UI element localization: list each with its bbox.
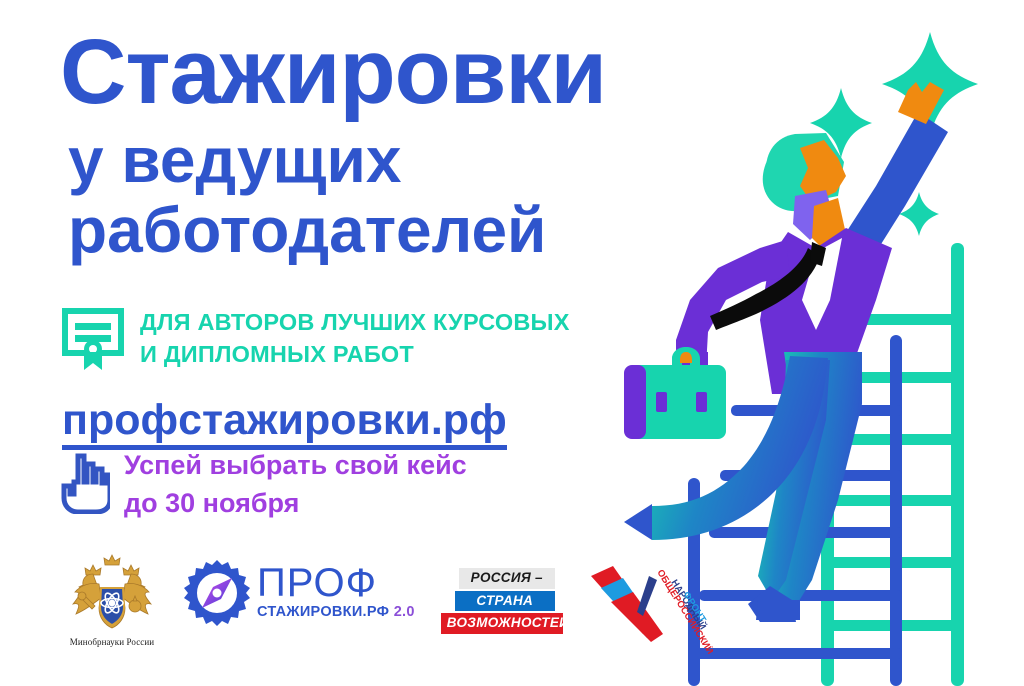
- pointer-hand-cursor-icon: [60, 452, 110, 514]
- cta-row: Успей выбрать свой кейс до 30 ноября: [60, 446, 467, 523]
- logo-strip: Минобрнауки России ПРОФ СТАЖИРОВКИ.РФ 2.…: [60, 552, 713, 654]
- logo-rossiya-strana-vozmozhnostey: РОССИЯ – СТРАНА ВОЗМОЖНОСТЕЙ: [441, 568, 563, 634]
- rsv-line-3: ВОЗМОЖНОСТЕЙ: [441, 613, 563, 634]
- prof-wordmark: ПРОФ: [257, 566, 415, 600]
- audience-line-1: ДЛЯ АВТОРОВ ЛУЧШИХ КУРСОВЫХ: [140, 306, 570, 338]
- russian-coat-of-arms-icon: [71, 552, 153, 630]
- audience-row: ДЛЯ АВТОРОВ ЛУЧШИХ КУРСОВЫХ И ДИПЛОМНЫХ …: [62, 306, 570, 371]
- site-url-link[interactable]: профстажировки.рф: [62, 398, 507, 450]
- briefcase: [624, 347, 726, 439]
- orange-hand-icon: [898, 82, 944, 124]
- sparkle-star-small: [899, 192, 939, 236]
- cta-text: Успей выбрать свой кейс до 30 ноября: [124, 446, 467, 523]
- teal-ladder: [821, 243, 964, 686]
- cta-line-1: Успей выбрать свой кейс: [124, 446, 467, 484]
- logo-onf: ОБЩЕРОССИЙСКИЙ НАРОДНЫЙ ФРОНТ: [583, 554, 713, 654]
- shoe-left: [624, 504, 652, 540]
- gear-compass-icon: [184, 560, 250, 626]
- rsv-line-1: РОССИЯ –: [459, 568, 555, 589]
- cta-line-2: до 30 ноября: [124, 484, 467, 522]
- logo-prof: ПРОФ СТАЖИРОВКИ.РФ 2.0: [184, 560, 415, 626]
- certificate-icon: [62, 308, 124, 370]
- audience-text: ДЛЯ АВТОРОВ ЛУЧШИХ КУРСОВЫХ И ДИПЛОМНЫХ …: [140, 306, 570, 371]
- face: [800, 140, 846, 203]
- logo-minobrnauki: Минобрнауки России: [60, 552, 164, 647]
- blue-ladder: [688, 335, 902, 686]
- prof-subline-text: СТАЖИРОВКИ.РФ: [257, 604, 389, 620]
- headline-line-1: Стажировки: [60, 28, 780, 116]
- rsv-line-2: СТРАНА: [455, 591, 555, 612]
- headline-line-2: у ведущих: [68, 128, 780, 192]
- onf-line-1: ОБЩЕРОССИЙСКИЙ: [654, 567, 713, 654]
- headline-line-3: работодателей: [68, 198, 780, 262]
- necktie-knot: [810, 242, 826, 266]
- neck-collar: [793, 190, 834, 240]
- prof-version: 2.0: [394, 604, 415, 620]
- minobrnauki-caption: Минобрнауки России: [60, 637, 164, 647]
- sparkle-star-medium: [810, 88, 872, 158]
- poster-canvas: Стажировки у ведущих работодателей ДЛЯ А…: [0, 0, 1024, 686]
- sparkle-star-large: [882, 32, 978, 136]
- neck: [812, 198, 846, 256]
- prof-subline: СТАЖИРОВКИ.РФ 2.0: [257, 604, 415, 620]
- headline-block: Стажировки у ведущих работодателей: [60, 28, 780, 262]
- raised-arm: [836, 82, 948, 268]
- onf-tricolor-checkmark-icon: ОБЩЕРОССИЙСКИЙ НАРОДНЫЙ ФРОНТ: [583, 554, 713, 654]
- audience-line-2: И ДИПЛОМНЫХ РАБОТ: [140, 338, 570, 370]
- shoe-right: [748, 586, 796, 622]
